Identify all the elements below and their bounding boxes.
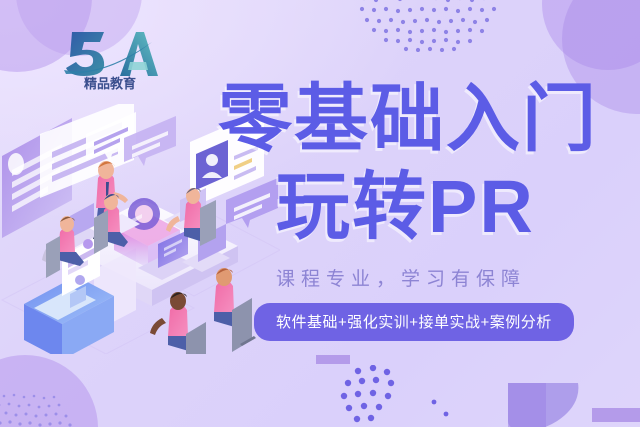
decor-dot-cluster-bottom — [340, 365, 406, 427]
headline-line-1: 零基础入门 — [218, 82, 610, 156]
subtitle-text: 课程专业，学习有保障 — [276, 264, 610, 291]
decor-bar-mid — [316, 355, 350, 364]
headline-line-2: 玩转PR — [276, 170, 610, 244]
logo-text: 精品教育 — [84, 76, 136, 90]
headline-block: 零基础入门 玩转PR 课程专业，学习有保障 软件基础+强化实训+接单实战+案例分… — [210, 82, 610, 341]
decor-halftone-bottom-left — [0, 392, 90, 427]
decor-circle-bottom-left — [0, 355, 98, 427]
brand-logo: 精品教育 — [60, 24, 160, 90]
decor-dot-arc — [358, 0, 498, 52]
course-promo-banner: 精品教育 零基础入门 玩转PR 课程专业，学习有保障 软件基础+强化实训+接单实… — [0, 0, 640, 427]
decor-dot-pair — [430, 398, 454, 420]
feature-pill: 软件基础+强化实训+接单实战+案例分析 — [254, 303, 574, 341]
decor-fan-shape — [508, 383, 618, 427]
decor-bar-bottom-right — [592, 408, 640, 422]
decor-circle-top-right-1 — [542, 0, 640, 70]
